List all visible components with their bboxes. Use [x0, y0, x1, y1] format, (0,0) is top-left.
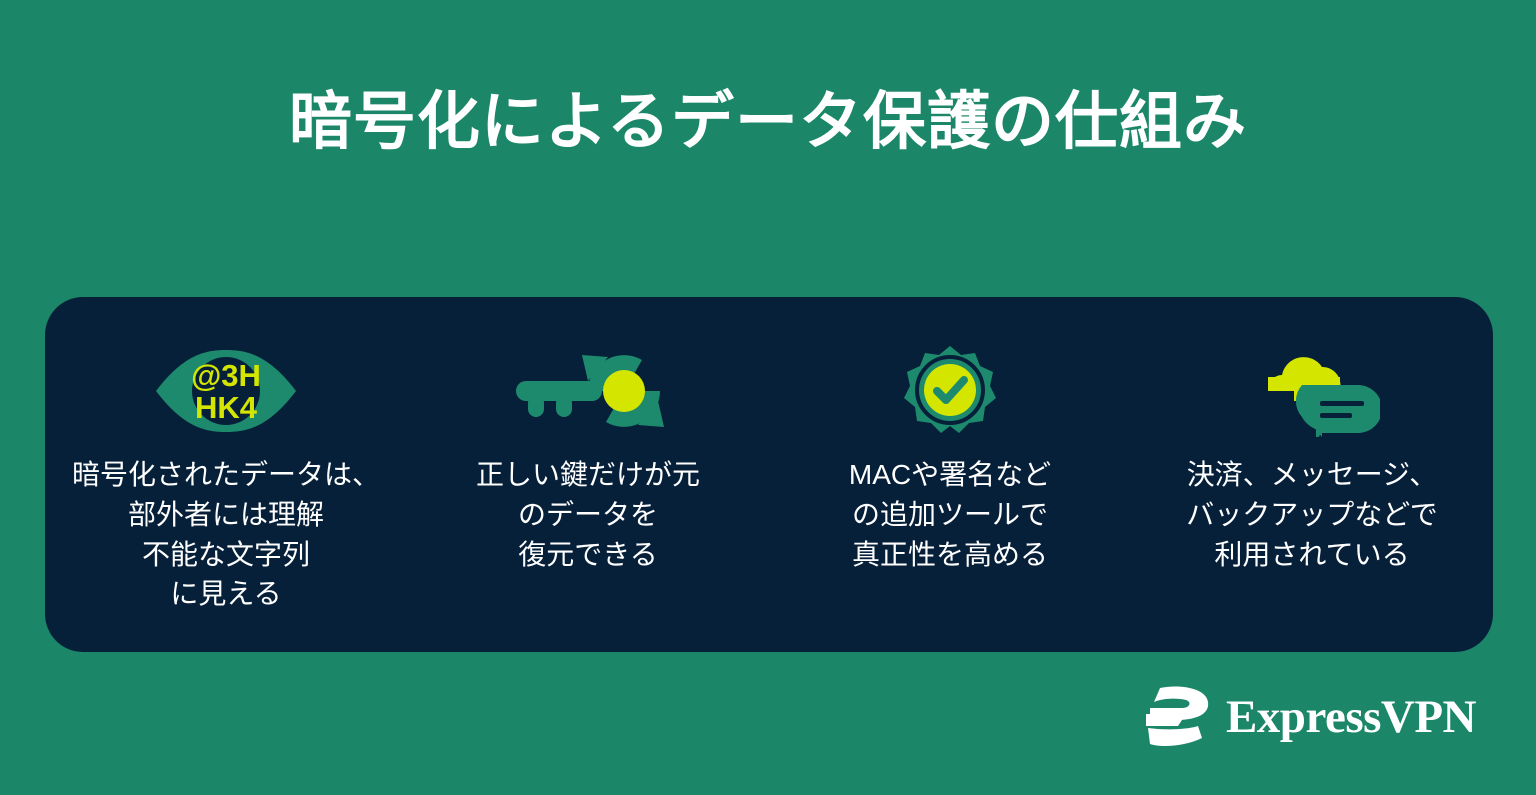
info-card-authenticity: MACや署名など の追加ツールで 真正性を高める — [769, 297, 1131, 574]
info-panel: @3H HK4 暗号化されたデータは、 部外者には理解 不能な文字列 に見える — [45, 297, 1493, 652]
info-card-encryption-appearance: @3H HK4 暗号化されたデータは、 部外者には理解 不能な文字列 に見える — [45, 297, 407, 614]
info-card-key-decryption: 正しい鍵だけが元 のデータを 復元できる — [407, 297, 769, 574]
expressvpn-mark-icon — [1140, 686, 1212, 748]
cloud-upload-chat-icon — [1244, 343, 1380, 439]
expressvpn-logo: ExpressVPN — [1140, 686, 1476, 748]
expressvpn-wordmark: ExpressVPN — [1226, 694, 1476, 741]
page-title: 暗号化によるデータ保護の仕組み — [0, 86, 1536, 158]
info-card-text: 正しい鍵だけが元 のデータを 復元できる — [407, 455, 769, 574]
svg-text:HK4: HK4 — [195, 390, 258, 425]
info-card-text: 決済、メッセージ、 バックアップなどで 利用されている — [1131, 455, 1493, 574]
info-card-text: 暗号化されたデータは、 部外者には理解 不能な文字列 に見える — [45, 455, 407, 614]
encrypted-eye-icon: @3H HK4 — [154, 343, 298, 439]
info-card-text: MACや署名など の追加ツールで 真正性を高める — [769, 455, 1131, 574]
info-card-usecases: 決済、メッセージ、 バックアップなどで 利用されている — [1131, 297, 1493, 574]
key-refresh-icon — [512, 343, 664, 439]
verified-badge-icon — [904, 343, 996, 439]
svg-text:@3H: @3H — [191, 358, 261, 393]
